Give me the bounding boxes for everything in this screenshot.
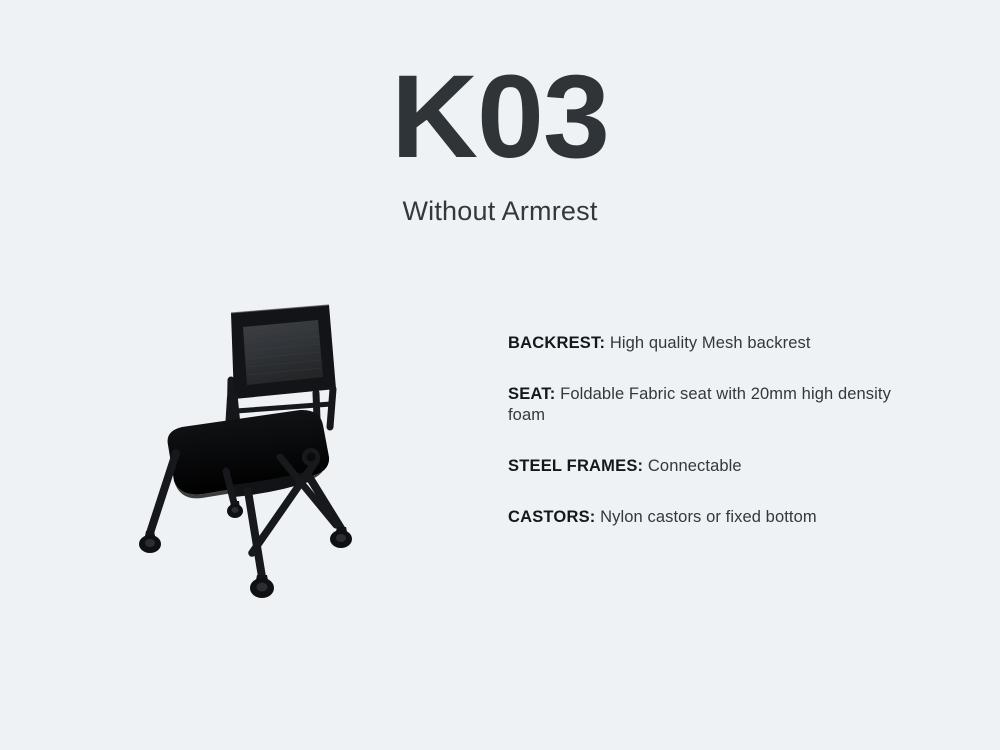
spec-label-steel-frames: STEEL FRAMES: <box>508 457 643 475</box>
spec-item-backrest: BACKREST: High quality Mesh backrest <box>508 333 900 354</box>
product-spec-sheet: K03 Without Armrest <box>0 0 1000 750</box>
page-title: K03 <box>0 58 1000 176</box>
castor-wheel <box>139 531 161 553</box>
product-image <box>130 285 380 605</box>
spec-label-castors: CASTORS: <box>508 508 595 526</box>
spec-label-backrest: BACKREST: <box>508 334 605 352</box>
spec-value-seat: Foldable Fabric seat with 20mm high dens… <box>508 385 891 424</box>
spec-value-castors: Nylon castors or fixed bottom <box>595 508 816 526</box>
spec-label-seat: SEAT: <box>508 385 555 403</box>
header: K03 Without Armrest <box>0 58 1000 227</box>
chair-backrest <box>231 305 336 399</box>
spec-item-castors: CASTORS: Nylon castors or fixed bottom <box>508 507 900 528</box>
product-subtitle: Without Armrest <box>0 196 1000 227</box>
spec-item-steel-frames: STEEL FRAMES: Connectable <box>508 456 900 477</box>
castor-wheel <box>330 527 352 548</box>
spec-item-seat: SEAT: Foldable Fabric seat with 20mm hig… <box>508 384 900 426</box>
castor-wheel <box>250 575 274 598</box>
spec-value-steel-frames: Connectable <box>643 457 741 475</box>
spec-value-backrest: High quality Mesh backrest <box>605 334 810 352</box>
chair-castors <box>139 501 352 598</box>
chair-illustration <box>130 285 380 605</box>
castor-wheel <box>227 501 243 518</box>
spec-list: BACKREST: High quality Mesh backrest SEA… <box>508 333 900 528</box>
